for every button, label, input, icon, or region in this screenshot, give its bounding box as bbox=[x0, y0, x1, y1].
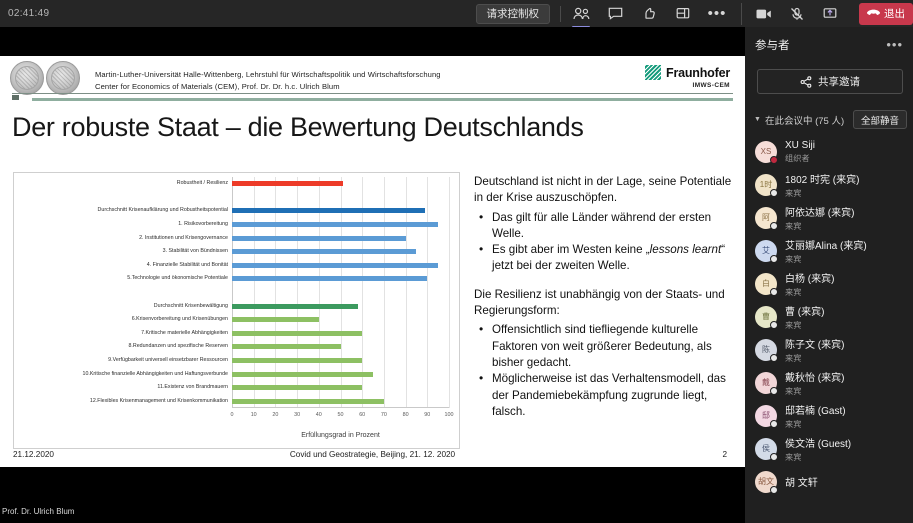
chart-bar bbox=[232, 331, 362, 336]
mic-muted-icon[interactable] bbox=[787, 3, 807, 25]
text-gap bbox=[474, 275, 736, 287]
chart-bar-row bbox=[232, 272, 449, 286]
participant-name: 戴秋怡 (来宾) bbox=[785, 369, 844, 384]
chevron-down-icon: ▼ bbox=[754, 116, 761, 123]
participant-list: XSXU Siji组织者1时1802 时宪 (来宾)来宾阿阿依达娜 (来宾)来宾… bbox=[745, 135, 913, 498]
chart-x-axis-line bbox=[232, 407, 449, 408]
in-meeting-label: 在此会议中 (75 人) bbox=[765, 113, 844, 127]
participant-meta: 戴秋怡 (来宾)来宾 bbox=[785, 369, 844, 397]
chart-category-label: Durchschnitt Krisenaufklärung und Robust… bbox=[98, 207, 228, 214]
leave-label: 退出 bbox=[884, 6, 905, 21]
chat-icon[interactable] bbox=[605, 3, 625, 25]
chart-x-tick: 100 bbox=[445, 412, 454, 418]
participant-meta: XU Siji组织者 bbox=[785, 140, 815, 164]
bullet-item: Das gilt für alle Länder während der ers… bbox=[474, 210, 736, 243]
camera-icon[interactable] bbox=[754, 3, 774, 25]
breakout-rooms-icon[interactable] bbox=[673, 3, 693, 25]
slide-title: Der robuste Staat – die Bewertung Deutsc… bbox=[12, 112, 584, 143]
avatar: XS bbox=[755, 141, 777, 163]
chart-bar bbox=[232, 344, 341, 349]
chart-category-label: 10.Kritische finanzielle Abhängigkeiten … bbox=[83, 371, 228, 378]
mic-status-badge bbox=[770, 255, 778, 263]
toolbar-divider bbox=[560, 6, 561, 22]
chart-bar-row bbox=[232, 381, 449, 395]
participant-role: 来宾 bbox=[785, 187, 859, 199]
participant-meta: 白杨 (来宾)来宾 bbox=[785, 270, 834, 298]
chart-bar bbox=[232, 181, 343, 186]
participant-name: XU Siji bbox=[785, 140, 815, 151]
meeting-toolbar: 02:41:49 请求控制权 bbox=[0, 0, 913, 27]
fraunhofer-mark-icon bbox=[645, 65, 661, 80]
mic-status-badge bbox=[770, 222, 778, 230]
chart-bar bbox=[232, 208, 425, 213]
chart-category-label: 9.Verfügbarkeit universell einsetzbarer … bbox=[108, 357, 228, 364]
gridline bbox=[449, 177, 450, 408]
resilience-bar-chart: Robustheit / ResilienzDurchschnitt Krise… bbox=[13, 172, 460, 449]
participant-row[interactable]: 艾艾丽娜Alina (来宾)来宾 bbox=[745, 234, 913, 267]
participant-name: 曹 (来宾) bbox=[785, 303, 824, 318]
mic-status-badge bbox=[770, 321, 778, 329]
participant-name: 侯文浩 (Guest) bbox=[785, 435, 851, 450]
chart-x-tick: 40 bbox=[316, 412, 322, 418]
mic-status-badge-red bbox=[770, 156, 778, 164]
participant-role: 来宾 bbox=[785, 418, 846, 430]
participant-name: 邸若楠 (Gast) bbox=[785, 402, 846, 417]
chart-bar-row bbox=[232, 313, 449, 327]
bullet-list-2: Offensichtlich sind tiefliegende kulture… bbox=[474, 322, 736, 420]
toolbar-icon-group: ••• bbox=[571, 3, 727, 25]
chart-category-label: 4. Finanzielle Stabilität und Bonität bbox=[147, 262, 228, 269]
chart-category-label: 2. Institutionen und Krisengovernance bbox=[139, 235, 228, 242]
participant-meta: 侯文浩 (Guest)来宾 bbox=[785, 435, 851, 463]
participant-row[interactable]: 白白杨 (来宾)来宾 bbox=[745, 267, 913, 300]
chart-bar bbox=[232, 222, 438, 227]
bullet-item: Offensichtlich sind tiefliegende kulture… bbox=[474, 322, 736, 371]
avatar: 白 bbox=[755, 273, 777, 295]
chart-bar bbox=[232, 236, 406, 241]
chart-bar-row bbox=[232, 218, 449, 232]
participant-meta: 邸若楠 (Gast)来宾 bbox=[785, 402, 846, 430]
chart-bar-row bbox=[232, 394, 449, 408]
participant-row[interactable]: 戴戴秋怡 (来宾)来宾 bbox=[745, 366, 913, 399]
chart-x-tick: 60 bbox=[359, 412, 365, 418]
header-accent-block bbox=[12, 95, 19, 100]
chart-x-tick: 90 bbox=[424, 412, 430, 418]
participant-row[interactable]: 阿阿依达娜 (来宾)来宾 bbox=[745, 201, 913, 234]
fraunhofer-name: Fraunhofer bbox=[666, 66, 730, 80]
chart-x-tick: 50 bbox=[338, 412, 344, 418]
bullet-item: Möglicherweise ist das Verhaltensmodell,… bbox=[474, 371, 736, 420]
chart-bar bbox=[232, 372, 373, 377]
chart-category-label: 5.Technologie und ökonomische Potentiale bbox=[127, 275, 228, 282]
participant-row[interactable]: 1时1802 时宪 (来宾)来宾 bbox=[745, 168, 913, 201]
chart-bar bbox=[232, 304, 358, 309]
institution-text: Martin-Luther-Universität Halle-Wittenbe… bbox=[95, 69, 441, 92]
in-meeting-section-header[interactable]: ▼ 在此会议中 (75 人) 全部静音 bbox=[745, 110, 913, 129]
chart-x-tick: 0 bbox=[231, 412, 234, 418]
request-control-button[interactable]: 请求控制权 bbox=[476, 4, 551, 24]
reactions-icon[interactable] bbox=[639, 3, 659, 25]
share-invite-label: 共享邀请 bbox=[818, 74, 860, 89]
participant-name: 白杨 (来宾) bbox=[785, 270, 834, 285]
fraunhofer-institute: IMWS-CEM bbox=[645, 82, 730, 89]
bullet-item: Es gibt aber im Westen keine „lessons le… bbox=[474, 242, 736, 275]
chart-category-label: 8.Redundanzen und spezifische Reserven bbox=[128, 343, 228, 350]
chart-bar bbox=[232, 358, 362, 363]
participant-name: 艾丽娜Alina (来宾) bbox=[785, 237, 867, 252]
chart-bar bbox=[232, 317, 319, 322]
bullet-text-italic: lessons learnt bbox=[650, 243, 722, 256]
chart-bar-row bbox=[232, 245, 449, 259]
participants-panel: 参与者 ••• 共享邀请 ▼ 在此会议中 (75 人) 全部静音 XSXU Si… bbox=[745, 27, 913, 523]
avatar: 1时 bbox=[755, 174, 777, 196]
paragraph-2: Die Resilienz ist unabhängig von der Sta… bbox=[474, 287, 736, 320]
bullet-list-1: Das gilt für alle Länder während der ers… bbox=[474, 210, 736, 275]
chart-category-label: Robustheit / Resilienz bbox=[177, 180, 228, 187]
participant-role: 来宾 bbox=[785, 286, 834, 298]
share-invite-button[interactable]: 共享邀请 bbox=[757, 69, 903, 94]
chart-bar-row bbox=[232, 299, 449, 313]
bullet-text-prefix: Es gibt aber im Westen keine „ bbox=[492, 243, 650, 256]
more-options-icon[interactable]: ••• bbox=[707, 3, 727, 25]
participant-name: 1802 时宪 (来宾) bbox=[785, 171, 859, 186]
participant-meta: 艾丽娜Alina (来宾)来宾 bbox=[785, 237, 867, 265]
participant-name: 陈子文 (来宾) bbox=[785, 336, 844, 351]
avatar: 胡文 bbox=[755, 471, 777, 493]
chart-x-tick: 20 bbox=[272, 412, 278, 418]
avatar: 曹 bbox=[755, 306, 777, 328]
participant-row[interactable]: 侯侯文浩 (Guest)来宾 bbox=[745, 432, 913, 465]
chart-bar-row bbox=[232, 326, 449, 340]
participant-meta: 1802 时宪 (来宾)来宾 bbox=[785, 171, 859, 199]
meeting-timer: 02:41:49 bbox=[8, 8, 49, 19]
chart-category-labels: Robustheit / ResilienzDurchschnitt Krise… bbox=[18, 177, 230, 408]
chart-category-label: 7.Kritische materielle Abhängigkeiten bbox=[141, 330, 228, 337]
toolbar-right-group: 退出 bbox=[741, 3, 913, 25]
avatar: 阿 bbox=[755, 207, 777, 229]
slide-body-text: Deutschland ist nicht in der Lage, seine… bbox=[474, 174, 736, 420]
university-seal-group bbox=[10, 61, 80, 95]
participant-meta: 胡 文轩 bbox=[785, 474, 818, 489]
participant-role: 来宾 bbox=[785, 385, 844, 397]
participant-row[interactable]: 陈陈子文 (来宾)来宾 bbox=[745, 333, 913, 366]
chart-category-label: 3. Stabilität von Bündnissen bbox=[163, 248, 228, 255]
chart-bar-row bbox=[232, 259, 449, 273]
slide-header: Martin-Luther-Universität Halle-Wittenbe… bbox=[0, 56, 745, 103]
participant-name: 胡 文轩 bbox=[785, 474, 818, 489]
participants-icon[interactable] bbox=[571, 3, 591, 25]
avatar: 戴 bbox=[755, 372, 777, 394]
chart-x-tick: 80 bbox=[403, 412, 409, 418]
chart-bars bbox=[232, 177, 449, 408]
mic-status-badge bbox=[770, 453, 778, 461]
university-seal-secondary-icon bbox=[46, 61, 80, 95]
chart-x-axis-title: Erfüllungsgrad in Prozent bbox=[232, 432, 449, 439]
participant-row[interactable]: XSXU Siji组织者 bbox=[745, 135, 913, 168]
chart-bar bbox=[232, 385, 362, 390]
chart-bar bbox=[232, 399, 384, 404]
presenter-name: Prof. Dr. Ulrich Blum bbox=[2, 507, 74, 516]
hangup-icon bbox=[867, 9, 880, 18]
chart-plot-area bbox=[232, 177, 449, 408]
screenshare-top-margin bbox=[0, 27, 745, 56]
slide-page-number: 2 bbox=[722, 450, 727, 459]
chart-category-label: 12.Flexibles Krisenmanagement und Krisen… bbox=[90, 398, 228, 405]
participant-row[interactable]: 曹曹 (来宾)来宾 bbox=[745, 300, 913, 333]
slide-footer-title: Covid und Geostrategie, Beijing, 21. 12.… bbox=[0, 450, 745, 459]
participant-role: 来宾 bbox=[785, 319, 824, 331]
participant-role: 来宾 bbox=[785, 451, 851, 463]
avatar: 邸 bbox=[755, 405, 777, 427]
paragraph-1: Deutschland ist nicht in der Lage, seine… bbox=[474, 174, 736, 207]
chart-x-tick: 10 bbox=[251, 412, 257, 418]
chart-bar bbox=[232, 276, 427, 281]
header-rule-thin bbox=[12, 93, 733, 94]
institution-line-2: Center for Economics of Materials (CEM),… bbox=[95, 81, 441, 93]
chart-bar-row bbox=[232, 340, 449, 354]
chart-bar-row bbox=[232, 354, 449, 368]
share-icon bbox=[800, 76, 812, 88]
mic-status-badge bbox=[770, 354, 778, 362]
chart-x-tick-labels: 0102030405060708090100 bbox=[232, 412, 449, 422]
screenshare-bottom-margin: Prof. Dr. Ulrich Blum bbox=[0, 467, 745, 523]
participant-role: 来宾 bbox=[785, 352, 844, 364]
mic-status-badge bbox=[770, 420, 778, 428]
chart-bar-row bbox=[232, 367, 449, 381]
participant-meta: 阿依达娜 (来宾)来宾 bbox=[785, 204, 854, 232]
university-seal-icon bbox=[10, 61, 44, 95]
chart-category-label: Durchschnitt Krisenbewältigung bbox=[154, 303, 228, 310]
participants-panel-title: 参与者 bbox=[755, 37, 790, 53]
participant-meta: 曹 (来宾)来宾 bbox=[785, 303, 824, 331]
chart-bar-row bbox=[232, 177, 449, 191]
slide-footer: 21.12.2020 Covid und Geostrategie, Beiji… bbox=[0, 450, 745, 459]
mic-status-badge bbox=[770, 288, 778, 296]
chart-bar-row bbox=[232, 204, 449, 218]
chart-x-tick: 30 bbox=[294, 412, 300, 418]
share-screen-icon[interactable] bbox=[820, 3, 840, 25]
participant-name: 阿依达娜 (来宾) bbox=[785, 204, 854, 219]
avatar: 艾 bbox=[755, 240, 777, 262]
participant-role: 来宾 bbox=[785, 220, 854, 232]
chart-bar bbox=[232, 263, 438, 268]
participant-role: 来宾 bbox=[785, 253, 867, 265]
fraunhofer-logo: Fraunhofer IMWS-CEM bbox=[645, 65, 730, 89]
avatar: 侯 bbox=[755, 438, 777, 460]
institution-line-1: Martin-Luther-Universität Halle-Wittenbe… bbox=[95, 69, 441, 81]
chart-bar-row bbox=[232, 231, 449, 245]
participant-meta: 陈子文 (来宾)来宾 bbox=[785, 336, 844, 364]
chart-category-label: 6.Krisenvorbereitung und Krisenübungen bbox=[132, 316, 228, 323]
participants-panel-header: 参与者 ••• bbox=[745, 27, 913, 63]
panel-more-icon[interactable]: ••• bbox=[886, 41, 903, 49]
leave-meeting-button[interactable]: 退出 bbox=[859, 3, 913, 25]
avatar: 陈 bbox=[755, 339, 777, 361]
zoom-meeting-screen: 02:41:49 请求控制权 bbox=[0, 0, 913, 523]
header-rule-thick bbox=[32, 98, 733, 101]
participant-row[interactable]: 邸邸若楠 (Gast)来宾 bbox=[745, 399, 913, 432]
shared-slide: Martin-Luther-Universität Halle-Wittenbe… bbox=[0, 56, 745, 467]
chart-bar bbox=[232, 249, 416, 254]
chart-category-label: 1. Risikovorbereitung bbox=[178, 221, 228, 228]
mic-status-badge bbox=[770, 387, 778, 395]
participant-role: 组织者 bbox=[785, 152, 815, 164]
chart-category-label: 11.Existenz von Brandmauern bbox=[157, 384, 228, 391]
mic-status-badge bbox=[770, 189, 778, 197]
chart-x-tick: 70 bbox=[381, 412, 387, 418]
mic-status-badge bbox=[770, 486, 778, 494]
participant-row[interactable]: 胡文胡 文轩 bbox=[745, 465, 913, 498]
mute-all-button[interactable]: 全部静音 bbox=[853, 110, 907, 129]
